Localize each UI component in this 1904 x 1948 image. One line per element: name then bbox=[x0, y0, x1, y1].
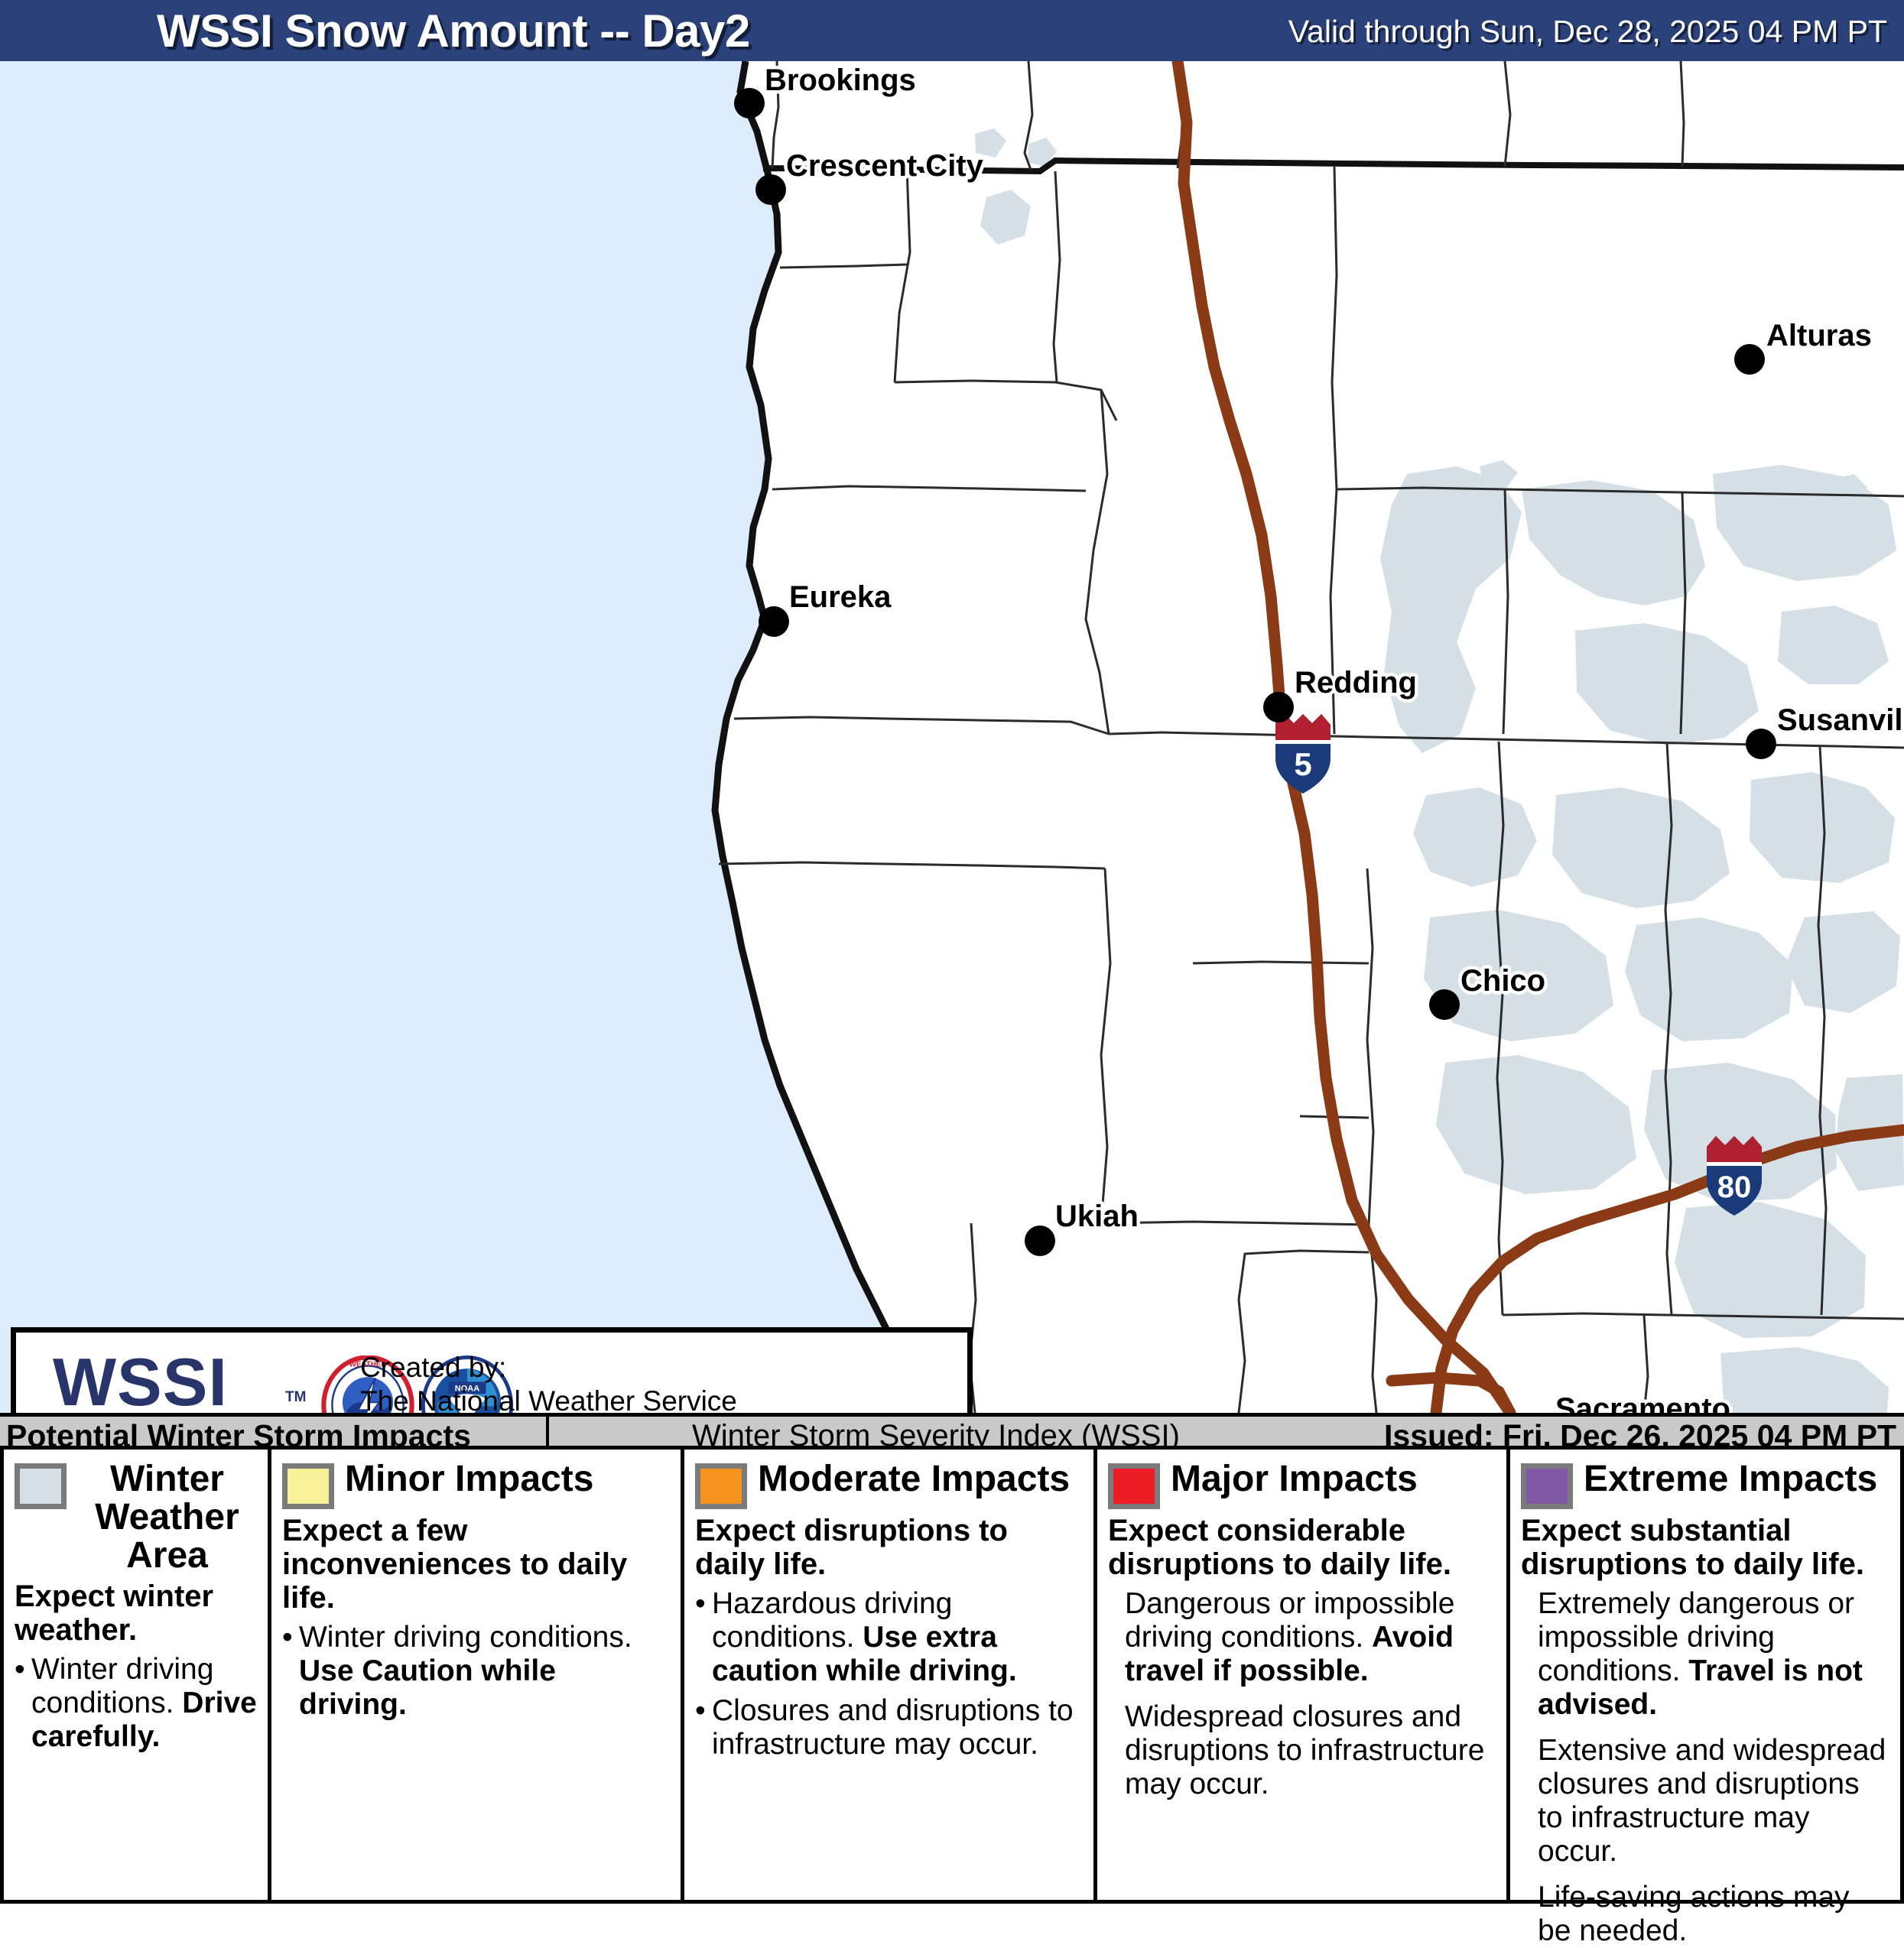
legend-column-header: Extreme Impacts bbox=[1521, 1460, 1889, 1509]
city-marker[interactable]: Sacramento bbox=[1524, 1392, 1730, 1413]
legend-color-swatch bbox=[15, 1463, 67, 1509]
legend-column: Major ImpactsExpect considerable disrupt… bbox=[1093, 1450, 1506, 1900]
impacts-legend: Winter Weather AreaExpect winter weather… bbox=[0, 1450, 1904, 1904]
city-dot-icon bbox=[759, 606, 789, 637]
city-dot-icon bbox=[734, 88, 765, 119]
wssi-trademark: TM bbox=[285, 1389, 306, 1406]
strip-left-label: Potential Winter Storm Impacts bbox=[6, 1418, 471, 1454]
city-label: Crescent City bbox=[786, 149, 984, 183]
bullet-icon: • bbox=[695, 1587, 712, 1688]
city-label: Brookings bbox=[765, 63, 916, 97]
legend-column-title: Major Impacts bbox=[1171, 1460, 1418, 1498]
legend-column-title: Winter Weather Area bbox=[77, 1460, 257, 1575]
legend-headline-text: Expect considerable disruptions to daily… bbox=[1108, 1514, 1496, 1581]
legend-column-body: Expect substantial disruptions to daily … bbox=[1521, 1514, 1889, 1948]
legend-color-swatch bbox=[1521, 1463, 1573, 1509]
city-dot-icon bbox=[1429, 989, 1460, 1020]
bullet-icon: • bbox=[282, 1621, 299, 1722]
city-label: Susanville bbox=[1777, 703, 1904, 737]
legend-column: Minor ImpactsExpect a few inconveniences… bbox=[268, 1450, 681, 1900]
legend-column-body: Expect considerable disruptions to daily… bbox=[1108, 1514, 1496, 1801]
legend-column-header: Minor Impacts bbox=[282, 1460, 670, 1509]
legend-bullet-text: Hazardous driving conditions. Use extra … bbox=[712, 1587, 1083, 1688]
city-dot-icon bbox=[1746, 729, 1776, 759]
svg-text:5: 5 bbox=[1294, 746, 1311, 782]
city-label: Alturas bbox=[1766, 319, 1872, 352]
strip-issued-label: Issued: Fri, Dec 26, 2025 04 PM PT bbox=[1384, 1418, 1896, 1454]
city-label: Chico bbox=[1460, 964, 1545, 998]
created-by-text: Created by: The National Weather Service… bbox=[360, 1351, 737, 1413]
legend-headline-text: Expect a few inconveniences to daily lif… bbox=[282, 1514, 670, 1615]
bullet-icon: • bbox=[15, 1653, 31, 1754]
legend-headline-text: Expect disruptions to daily life. bbox=[695, 1514, 1083, 1581]
legend-column: Winter Weather AreaExpect winter weather… bbox=[4, 1450, 268, 1900]
legend-bullet-text: Winter driving conditions. Drive careful… bbox=[31, 1653, 257, 1754]
impacts-strip: Potential Winter Storm Impacts Winter St… bbox=[0, 1413, 1904, 1450]
map-svg: 5 80 BrookingsCrescent CityAlturasEureka… bbox=[0, 61, 1904, 1413]
bullet-icon: • bbox=[695, 1694, 712, 1761]
city-dot-icon bbox=[755, 174, 786, 205]
svg-text:80: 80 bbox=[1717, 1170, 1752, 1204]
city-dot-icon bbox=[1263, 692, 1294, 722]
legend-column-body: Expect winter weather.•Winter driving co… bbox=[15, 1580, 257, 1754]
valid-through-text: Valid through Sun, Dec 28, 2025 04 PM PT bbox=[1288, 14, 1887, 50]
legend-color-swatch bbox=[282, 1463, 334, 1509]
legend-bullet-item: •Hazardous driving conditions. Use extra… bbox=[695, 1587, 1083, 1688]
legend-bullet-item: •Winter driving conditions. Use Caution … bbox=[282, 1621, 670, 1722]
legend-bullet-emphasis: Drive carefully. bbox=[31, 1687, 257, 1753]
legend-color-swatch bbox=[1108, 1463, 1160, 1509]
wssi-map-page: WSSI Snow Amount -- Day2 Valid through S… bbox=[0, 0, 1904, 1904]
page-header: WSSI Snow Amount -- Day2 Valid through S… bbox=[0, 0, 1904, 61]
wssi-logo-box: WSSI TM The Winter Storm Severity Index … bbox=[11, 1327, 973, 1413]
legend-column-body: Expect disruptions to daily life.•Hazard… bbox=[695, 1514, 1083, 1761]
legend-column-header: Winter Weather Area bbox=[15, 1460, 257, 1575]
legend-bullet-item: •Closures and disruptions to infrastruct… bbox=[695, 1694, 1083, 1761]
created-line-0: Created by: bbox=[360, 1351, 737, 1385]
legend-bullet-text: Closures and disruptions to infrastructu… bbox=[712, 1694, 1083, 1761]
legend-column-title: Minor Impacts bbox=[345, 1460, 593, 1498]
wssi-wordmark: WSSI bbox=[53, 1343, 228, 1413]
page-title: WSSI Snow Amount -- Day2 bbox=[157, 5, 750, 57]
created-line-1: The National Weather Service bbox=[360, 1385, 737, 1413]
strip-center-label: Winter Storm Severity Index (WSSI) bbox=[692, 1419, 1180, 1453]
legend-headline-text: Expect winter weather. bbox=[15, 1580, 257, 1647]
legend-column-title: Moderate Impacts bbox=[758, 1460, 1070, 1498]
legend-paragraph: Extremely dangerous or impossible drivin… bbox=[1521, 1587, 1889, 1722]
strip-divider bbox=[546, 1417, 549, 1446]
legend-bullet-emphasis: Use Caution while driving. bbox=[299, 1654, 556, 1721]
city-label: Ukiah bbox=[1055, 1200, 1139, 1233]
city-label: Redding bbox=[1295, 666, 1417, 700]
legend-paragraph: Dangerous or impossible driving conditio… bbox=[1108, 1587, 1496, 1688]
legend-column-body: Expect a few inconveniences to daily lif… bbox=[282, 1514, 670, 1722]
legend-headline-text: Expect substantial disruptions to daily … bbox=[1521, 1514, 1889, 1581]
city-label: Eureka bbox=[789, 580, 892, 614]
city-label: Sacramento bbox=[1555, 1392, 1730, 1413]
legend-paragraph: Life-saving actions may be needed. bbox=[1521, 1881, 1889, 1948]
legend-column: Extreme ImpactsExpect substantial disrup… bbox=[1506, 1450, 1900, 1900]
city-dot-icon bbox=[1734, 344, 1765, 375]
legend-column: Moderate ImpactsExpect disruptions to da… bbox=[681, 1450, 1093, 1900]
legend-color-swatch bbox=[695, 1463, 747, 1509]
legend-column-header: Major Impacts bbox=[1108, 1460, 1496, 1509]
legend-paragraph: Extensive and widespread closures and di… bbox=[1521, 1734, 1889, 1868]
legend-bullet-item: •Winter driving conditions. Drive carefu… bbox=[15, 1653, 257, 1754]
legend-paragraph-emphasis: Travel is not advised. bbox=[1538, 1654, 1863, 1721]
legend-bullet-emphasis: Use extra caution while driving. bbox=[712, 1621, 1017, 1687]
legend-column-header: Moderate Impacts bbox=[695, 1460, 1083, 1509]
legend-paragraph-emphasis: Avoid travel if possible. bbox=[1125, 1621, 1454, 1687]
city-dot-icon bbox=[1025, 1226, 1055, 1256]
legend-column-title: Extreme Impacts bbox=[1584, 1460, 1877, 1498]
legend-paragraph: Widespread closures and disruptions to i… bbox=[1108, 1700, 1496, 1801]
legend-bullet-text: Winter driving conditions. Use Caution w… bbox=[299, 1621, 670, 1722]
map-canvas[interactable]: 5 80 BrookingsCrescent CityAlturasEureka… bbox=[0, 61, 1904, 1413]
